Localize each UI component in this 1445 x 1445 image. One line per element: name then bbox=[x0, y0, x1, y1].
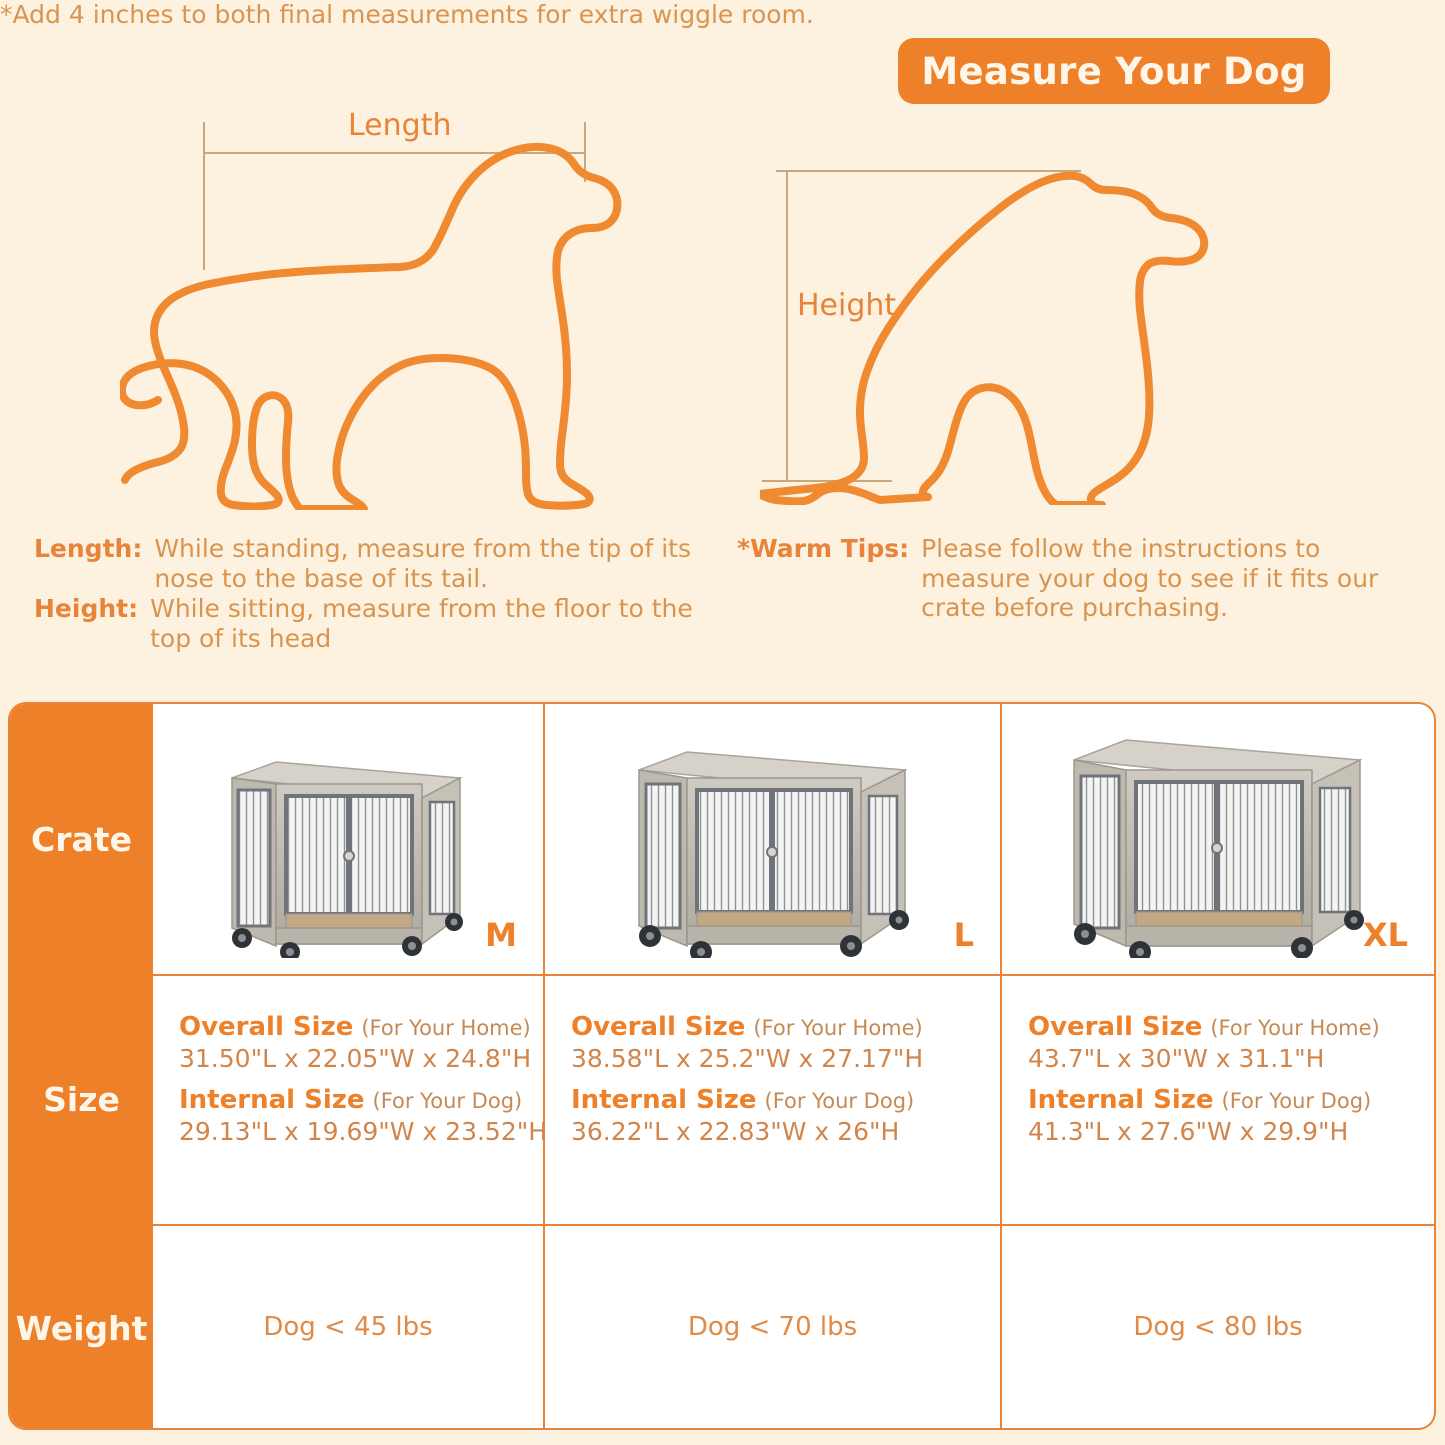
dog-crate-image-m bbox=[208, 740, 488, 958]
badge-label: Measure Your Dog bbox=[921, 50, 1306, 93]
size-tag-xl: XL bbox=[1363, 916, 1408, 954]
overall-size-heading-l: Overall Size(For Your Home) bbox=[571, 1012, 1000, 1042]
overall-size-title: Overall Size bbox=[1028, 1012, 1202, 1042]
warm-tips: *Warm Tips: Please follow the instructio… bbox=[737, 534, 1437, 623]
size-cell-m: Overall Size(For Your Home) 31.50"L x 22… bbox=[153, 974, 543, 1224]
crate-cell-m: M bbox=[153, 704, 543, 974]
size-cell-xl: Overall Size(For Your Home) 43.7"L x 30"… bbox=[1002, 974, 1434, 1224]
weight-text-m: Dog < 45 lbs bbox=[263, 1312, 432, 1342]
size-tag-m: M bbox=[485, 916, 517, 954]
infographic-root: Measure Your Dog Length Height Length: W… bbox=[0, 0, 1445, 1445]
overall-dims-l: 38.58"L x 25.2"W x 27.17"H bbox=[571, 1044, 1000, 1073]
size-cell-l: Overall Size(For Your Home) 38.58"L x 25… bbox=[545, 974, 1000, 1224]
internal-dims-xl: 41.3"L x 27.6"W x 29.9"H bbox=[1028, 1117, 1434, 1146]
overall-size-heading-m: Overall Size(For Your Home) bbox=[179, 1012, 543, 1042]
internal-size-title: Internal Size bbox=[1028, 1085, 1214, 1115]
overall-size-sub: (For Your Home) bbox=[753, 1016, 922, 1040]
weight-cell-xl: Dog < 80 lbs bbox=[1002, 1224, 1434, 1430]
warm-tips-key: *Warm Tips: bbox=[737, 534, 909, 563]
instruction-height-key: Height: bbox=[34, 594, 138, 623]
internal-size-title: Internal Size bbox=[571, 1085, 757, 1115]
weight-cell-l: Dog < 70 lbs bbox=[545, 1224, 1000, 1430]
overall-size-sub: (For Your Home) bbox=[361, 1016, 530, 1040]
internal-size-sub: (For Your Dog) bbox=[373, 1089, 523, 1113]
row-label-crate: Crate bbox=[10, 704, 153, 974]
internal-size-title: Internal Size bbox=[179, 1085, 365, 1115]
row-label-size: Size bbox=[10, 974, 153, 1224]
instruction-note: *Add 4 inches to both final measurements… bbox=[0, 0, 760, 29]
overall-dims-xl: 43.7"L x 30"W x 31.1"H bbox=[1028, 1044, 1434, 1073]
crate-cell-l: L bbox=[545, 704, 1000, 974]
overall-size-title: Overall Size bbox=[571, 1012, 745, 1042]
weight-cell-m: Dog < 45 lbs bbox=[153, 1224, 543, 1430]
internal-size-sub: (For Your Dog) bbox=[1222, 1089, 1372, 1113]
sitting-dog-outline-icon bbox=[760, 150, 1230, 505]
instruction-note-text: *Add 4 inches to both final measurements… bbox=[0, 0, 814, 29]
standing-dog-outline-icon bbox=[120, 110, 640, 510]
overall-size-title: Overall Size bbox=[179, 1012, 353, 1042]
row-label-weight: Weight bbox=[10, 1224, 153, 1430]
instruction-height: Height: While sitting, measure from the … bbox=[34, 594, 714, 653]
overall-dims-m: 31.50"L x 22.05"W x 24.8"H bbox=[179, 1044, 543, 1073]
dog-crate-image-l bbox=[613, 730, 933, 958]
internal-size-heading-l: Internal Size(For Your Dog) bbox=[571, 1085, 1000, 1115]
instruction-length-text: While standing, measure from the tip of … bbox=[154, 534, 714, 593]
crate-cell-xl: XL bbox=[1002, 704, 1434, 974]
weight-text-l: Dog < 70 lbs bbox=[688, 1312, 857, 1342]
internal-dims-l: 36.22"L x 22.83"W x 26"H bbox=[571, 1117, 1000, 1146]
measure-your-dog-badge: Measure Your Dog bbox=[898, 38, 1330, 104]
weight-text-xl: Dog < 80 lbs bbox=[1133, 1312, 1302, 1342]
warm-tips-text: Please follow the instructions to measur… bbox=[921, 534, 1437, 623]
comparison-table: Crate Size Weight bbox=[8, 702, 1436, 1430]
internal-size-heading-xl: Internal Size(For Your Dog) bbox=[1028, 1085, 1434, 1115]
overall-size-sub: (For Your Home) bbox=[1210, 1016, 1379, 1040]
instruction-height-text: While sitting, measure from the floor to… bbox=[150, 594, 714, 653]
overall-size-heading-xl: Overall Size(For Your Home) bbox=[1028, 1012, 1434, 1042]
instruction-length: Length: While standing, measure from the… bbox=[34, 534, 714, 593]
instruction-length-key: Length: bbox=[34, 534, 142, 563]
internal-size-heading-m: Internal Size(For Your Dog) bbox=[179, 1085, 543, 1115]
dog-crate-image-xl bbox=[1048, 720, 1388, 958]
internal-dims-m: 29.13"L x 19.69"W x 23.52"H bbox=[179, 1117, 543, 1146]
internal-size-sub: (For Your Dog) bbox=[765, 1089, 915, 1113]
size-tag-l: L bbox=[954, 916, 974, 954]
